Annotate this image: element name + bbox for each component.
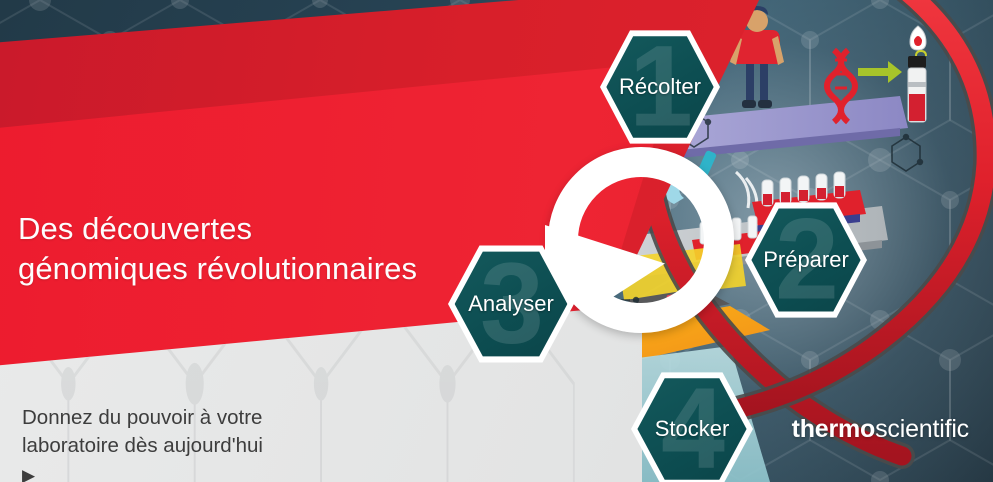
workflow-step-3-analyser[interactable]: 3 Analyser <box>448 243 574 365</box>
thermo-scientific-logo: thermoscientific <box>792 415 969 444</box>
cta-line-2: laboratoire dès aujourd'hui ▶ <box>22 432 442 482</box>
step-4-label: Stocker <box>655 416 730 442</box>
logo-thermo: thermo <box>792 415 876 443</box>
workflow-step-2-preparer[interactable]: 2 Préparer <box>745 200 867 320</box>
workflow-step-1-recolter[interactable]: 1 Récolter <box>600 28 720 146</box>
headline: Des découvertes génomiques révolutionnai… <box>18 209 488 290</box>
headline-line-1: Des découvertes <box>18 209 488 249</box>
logo-scientific: scientific <box>875 415 969 443</box>
workflow-step-4-stocker[interactable]: 4 Stocker <box>631 370 753 482</box>
headline-line-2: génomiques révolutionnaires <box>18 249 488 289</box>
play-arrow-icon: ▶ <box>22 466 35 482</box>
call-to-action-link[interactable]: Donnez du pouvoir à votre laboratoire dè… <box>22 404 442 482</box>
cta-line-2-text: laboratoire dès aujourd'hui <box>22 432 442 460</box>
step-2-label: Préparer <box>763 247 849 273</box>
cta-line-1: Donnez du pouvoir à votre <box>22 404 442 432</box>
step-3-label: Analyser <box>468 291 554 317</box>
thermo-scientific-banner: Des découvertes génomiques révolutionnai… <box>0 0 993 482</box>
step-1-label: Récolter <box>619 74 701 100</box>
